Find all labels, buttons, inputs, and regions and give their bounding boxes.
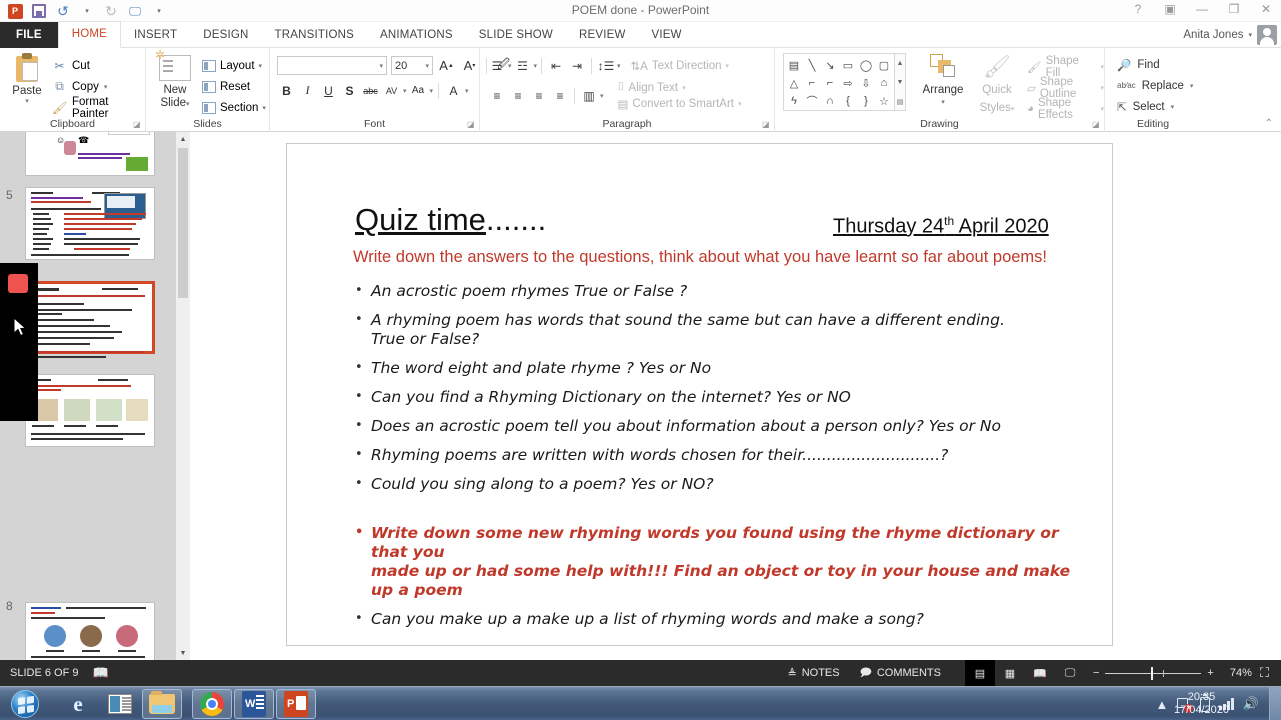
- slide-editing-area[interactable]: Quiz time....... Thursday 24th April 202…: [190, 132, 1281, 660]
- clock-date: 17/04/2020: [1174, 704, 1229, 717]
- list-item-line2: made up or had some help with!!! Find an…: [371, 562, 1070, 599]
- list-item-line1: Write down some new rhyming words you fo…: [371, 524, 1059, 561]
- gallery-more-icon[interactable]: ▤: [895, 92, 905, 111]
- collapse-ribbon-icon[interactable]: ⌃: [1265, 118, 1273, 129]
- chevron-down-icon[interactable]: ▾: [508, 62, 512, 70]
- slide-date-text: Thursday 24: [833, 216, 944, 238]
- strikethrough-button[interactable]: abc: [361, 81, 380, 100]
- select-label: Select: [1133, 101, 1165, 113]
- text-direction-icon: ⇅A: [631, 59, 648, 73]
- chevron-down-icon[interactable]: ▾: [379, 62, 383, 70]
- chevron-down-icon[interactable]: ▾: [534, 62, 538, 70]
- arrange-icon: [930, 54, 956, 78]
- status-bar: SLIDE 6 OF 9 📖 ≜ NOTES 🗩 COMMENTS ▤ ▦ 📖 …: [0, 660, 1281, 686]
- increase-indent-icon[interactable]: ⇥: [567, 56, 587, 75]
- fit-window-icon[interactable]: ⛶: [1260, 665, 1273, 681]
- reset-icon: [202, 81, 216, 93]
- scrollbar-thumb[interactable]: [178, 148, 188, 298]
- notes-label: NOTES: [802, 667, 840, 679]
- binoculars-icon: 🔎: [1117, 58, 1131, 72]
- shape-rounded-rect-icon[interactable]: ▢: [875, 56, 893, 74]
- group-label-editing: Editing: [1065, 118, 1241, 130]
- list-item[interactable]: Can you make up a make up a list of rhym…: [353, 610, 1083, 629]
- scissors-icon: ✂: [52, 59, 67, 73]
- new-slide-label-1: New: [163, 84, 186, 96]
- slide-sorter-icon[interactable]: ▦: [995, 660, 1025, 686]
- tab-review[interactable]: REVIEW: [566, 22, 639, 48]
- decrease-font-size-button[interactable]: A▾: [460, 56, 479, 75]
- ribbon-tab-bar: FILE HOME INSERT DESIGN TRANSITIONS ANIM…: [0, 22, 1281, 48]
- proofing-icon[interactable]: 📖: [92, 665, 108, 681]
- mouse-cursor: [14, 318, 28, 343]
- new-slide-icon: [159, 55, 191, 81]
- notes-button[interactable]: ≜ NOTES: [777, 660, 849, 686]
- shape-fill-icon: 🖌: [1027, 60, 1042, 74]
- list-item[interactable]: [25, 281, 155, 354]
- align-center-icon[interactable]: ≡: [508, 87, 528, 106]
- reading-view-icon[interactable]: 📖: [1025, 660, 1055, 686]
- font-size-value: 20: [395, 60, 407, 72]
- align-text-label: Align Text: [628, 82, 678, 94]
- copy-label: Copy: [72, 81, 99, 93]
- font-name-input[interactable]: ▾: [277, 56, 387, 75]
- shape-down-arrow-icon[interactable]: ⇩: [857, 74, 875, 92]
- reset-button[interactable]: Reset: [202, 76, 266, 97]
- clock-time: 20:35: [1188, 691, 1216, 704]
- scroll-down-icon[interactable]: ▼: [176, 646, 190, 660]
- gallery-scroll-up-icon[interactable]: ▲: [895, 54, 905, 73]
- chevron-down-icon[interactable]: ▾: [104, 83, 108, 91]
- paste-icon: [14, 53, 40, 83]
- chevron-down-icon[interactable]: ▾: [403, 87, 407, 95]
- section-label: Section: [220, 102, 258, 114]
- tab-transitions[interactable]: TRANSITIONS: [262, 22, 368, 48]
- chevron-down-icon[interactable]: ▾: [262, 104, 266, 112]
- arrange-label: Arrange: [923, 84, 964, 96]
- tab-insert[interactable]: INSERT: [121, 22, 190, 48]
- zoom-tick: [1163, 670, 1164, 677]
- chevron-down-icon[interactable]: ▾: [726, 62, 730, 70]
- powerpoint-window: P ↺ ▾ ↻ 🖵 ▾ POEM done - PowerPoint ? ▣ —…: [0, 0, 1281, 720]
- chevron-down-icon[interactable]: ▾: [259, 62, 263, 70]
- slide-title-text: Quiz time: [355, 202, 486, 237]
- chevron-down-icon[interactable]: ▾: [600, 92, 604, 100]
- select-button[interactable]: ⇱ Select ▾: [1117, 96, 1193, 117]
- list-item[interactable]: Could you sing along to a poem? Yes or N…: [353, 475, 1083, 494]
- scroll-up-icon[interactable]: ▲: [176, 132, 190, 146]
- restore-button[interactable]: ❐: [1223, 2, 1245, 16]
- file-explorer-icon[interactable]: [142, 689, 182, 719]
- justify-icon[interactable]: ≡: [550, 87, 570, 106]
- list-item[interactable]: Does an acrostic poem tell you about inf…: [353, 417, 1083, 436]
- list-item[interactable]: The word eight and plate rhyme ? Yes or …: [353, 359, 1083, 378]
- list-item[interactable]: [25, 374, 155, 447]
- shape-scribble-icon[interactable]: ϟ: [785, 92, 803, 110]
- font-color-button[interactable]: A: [444, 81, 463, 100]
- cut-button[interactable]: ✂ Cut: [52, 55, 145, 76]
- convert-to-smartart-button[interactable]: ▤ Convert to SmartArt ▾: [618, 97, 742, 111]
- shape-textbox-icon[interactable]: ▤: [785, 56, 803, 74]
- new-slide-label-2: Slide: [160, 97, 186, 109]
- ribbon-group-font: ▾ 20 ▾ A▲ A▾ 🖉 B I U S abc: [270, 48, 480, 132]
- tab-file[interactable]: FILE: [0, 22, 58, 48]
- shape-effects-button[interactable]: ◕ Shape Effects ▾: [1027, 98, 1104, 119]
- chevron-down-icon[interactable]: ▾: [1248, 31, 1252, 39]
- quick-styles-icon: 🖌: [971, 54, 1023, 80]
- ribbon-group-clipboard: Paste ▾ ✂ Cut ⧉ Copy ▾ 🖌 Format Painter: [0, 48, 146, 132]
- show-desktop-button[interactable]: [1269, 687, 1281, 720]
- shape-rectangle-icon[interactable]: ▭: [839, 56, 857, 74]
- comment-icon: 🗩: [860, 664, 872, 683]
- document-title: POEM done - PowerPoint: [0, 3, 1281, 17]
- zoom-slider[interactable]: − +: [1085, 667, 1222, 679]
- chevron-down-icon[interactable]: ▾: [915, 98, 971, 106]
- list-item[interactable]: An acrostic poem rhymes True or False ?: [353, 282, 1083, 301]
- decrease-indent-icon[interactable]: ⇤: [546, 56, 566, 75]
- slide-title-dots: .......: [486, 202, 546, 237]
- convert-to-smartart-label: Convert to SmartArt: [632, 98, 734, 110]
- list-item-line1: A rhyming poem has words that sound the …: [371, 311, 1005, 329]
- shape-star-icon[interactable]: ☆: [875, 92, 893, 110]
- thumbnail-number: 8: [6, 599, 13, 613]
- start-button[interactable]: [2, 688, 48, 720]
- columns-icon[interactable]: ▥: [579, 87, 599, 106]
- numbering-icon[interactable]: ☲: [513, 56, 533, 75]
- slide-date[interactable]: Thursday 24th April 2020: [833, 214, 1049, 239]
- reset-label: Reset: [220, 81, 250, 93]
- thumbnail-pane-scrollbar[interactable]: ▲ ▼: [176, 132, 190, 660]
- shape-effects-icon: ◕: [1027, 103, 1034, 115]
- chevron-down-icon[interactable]: ▾: [1100, 105, 1104, 113]
- layout-icon: [202, 60, 216, 72]
- group-label-paragraph: Paragraph: [480, 118, 774, 130]
- line-spacing-icon[interactable]: ↕☰: [596, 56, 616, 75]
- current-slide[interactable]: Quiz time....... Thursday 24th April 202…: [286, 143, 1113, 646]
- group-label-font: Font: [270, 118, 479, 130]
- slide-date-rest: April 2020: [954, 216, 1049, 238]
- chevron-down-icon[interactable]: ▾: [738, 100, 742, 108]
- volume-icon[interactable]: 🔊: [1243, 696, 1259, 712]
- ribbon-group-slides: New Slide▾ Layout ▾ Reset Section ▾: [146, 48, 270, 132]
- chevron-down-icon[interactable]: ▾: [1190, 82, 1194, 90]
- arrange-button[interactable]: Arrange ▾: [915, 54, 971, 106]
- user-account[interactable]: Anita Jones ▾: [1183, 22, 1277, 48]
- slide-date-ordinal: th: [944, 214, 954, 228]
- slideshow-icon[interactable]: 🖵: [1055, 660, 1085, 686]
- clipboard-dialog-launcher-icon[interactable]: ◪: [133, 120, 142, 129]
- shape-right-arrow-icon[interactable]: ⇨: [839, 74, 857, 92]
- shape-oval-icon[interactable]: ◯: [857, 56, 875, 74]
- chevron-down-icon[interactable]: ▾: [430, 87, 434, 95]
- layout-label: Layout: [220, 60, 255, 72]
- thumbnail-number: 5: [6, 188, 13, 202]
- chevron-down-icon[interactable]: ▾: [1171, 103, 1175, 111]
- slide-bullet-list[interactable]: An acrostic poem rhymes True or False ? …: [353, 282, 1083, 639]
- avatar[interactable]: [1257, 25, 1277, 45]
- comments-button[interactable]: 🗩 COMMENTS: [850, 660, 951, 686]
- list-item[interactable]: ☺ ☎: [25, 132, 155, 176]
- shape-curve-icon[interactable]: ∩: [821, 92, 839, 110]
- shape-right-brace-icon[interactable]: }: [857, 92, 875, 110]
- new-slide-button[interactable]: New Slide▾: [152, 53, 198, 111]
- windows-taskbar: e W P ▲ ✕ 🔊 20:35 17/04/2020: [0, 686, 1281, 720]
- italic-button[interactable]: I: [298, 81, 317, 100]
- chevron-down-icon[interactable]: ▾: [425, 62, 429, 70]
- slide-indicator[interactable]: SLIDE 6 OF 9: [10, 667, 78, 679]
- shape-effects-label: Shape Effects: [1038, 97, 1097, 121]
- media-player-icon[interactable]: [100, 689, 140, 719]
- list-item[interactable]: [25, 187, 155, 260]
- section-icon: [202, 102, 216, 114]
- stop-recording-icon[interactable]: [8, 274, 28, 293]
- change-case-button[interactable]: Aa: [409, 81, 428, 100]
- list-item-line2: True or False?: [371, 330, 479, 348]
- zoom-level-label[interactable]: 74%: [1222, 667, 1260, 679]
- shapes-gallery[interactable]: ▤ ╲ ↘ ▭ ◯ ▢ △ ⌐ ⌐ ⇨ ⇩ ⌂ ϟ ⌒ ∩ { } ☆: [783, 53, 895, 111]
- increase-font-size-button[interactable]: A▲: [437, 56, 456, 75]
- paste-label: Paste: [12, 85, 41, 97]
- shape-elbow-arrow-icon[interactable]: ⌐: [821, 74, 839, 92]
- text-direction-button[interactable]: ⇅A Text Direction ▾: [631, 59, 730, 73]
- internet-explorer-icon[interactable]: e: [58, 689, 98, 719]
- bullets-icon[interactable]: ☰: [487, 56, 507, 75]
- list-item[interactable]: [25, 602, 155, 660]
- replace-icon: ab⁄ac: [1117, 81, 1136, 90]
- character-spacing-label: AV: [386, 86, 397, 96]
- quick-styles-button[interactable]: 🖌 Quick Styles▾: [971, 54, 1023, 116]
- align-text-icon: ⌷: [618, 81, 625, 94]
- shapes-gallery-scrollbar[interactable]: ▲ ▼ ▤: [895, 53, 906, 111]
- format-painter-label: Format Painter: [72, 96, 145, 120]
- character-spacing-button[interactable]: AV: [382, 81, 401, 100]
- align-right-icon[interactable]: ≡: [529, 87, 549, 106]
- window-controls: ? ▣ — ❐ ✕: [1127, 2, 1277, 16]
- paste-button[interactable]: Paste ▾: [6, 53, 48, 105]
- pointer-icon: ⇱: [1117, 100, 1127, 114]
- format-painter-button[interactable]: 🖌 Format Painter: [52, 97, 145, 118]
- align-left-icon[interactable]: ≡: [487, 87, 507, 106]
- chevron-down-icon[interactable]: ▾: [617, 62, 621, 70]
- chevron-down-icon[interactable]: ▾: [465, 87, 469, 95]
- shape-outline-icon: ▱: [1027, 81, 1036, 95]
- shape-fill-button[interactable]: 🖌 Shape Fill ▾: [1027, 56, 1104, 77]
- powerpoint-icon[interactable]: P: [276, 689, 316, 719]
- comments-label: COMMENTS: [877, 667, 941, 679]
- list-item[interactable]: Write down some new rhyming words you fo…: [353, 524, 1083, 600]
- zoom-track[interactable]: [1105, 673, 1201, 674]
- ribbon-display-options-icon[interactable]: ▣: [1159, 2, 1181, 16]
- title-bar: P ↺ ▾ ↻ 🖵 ▾ POEM done - PowerPoint ? ▣ —…: [0, 0, 1281, 22]
- shape-arrow-icon[interactable]: ↘: [821, 56, 839, 74]
- paintbrush-icon: 🖌: [52, 101, 67, 115]
- show-hidden-icons-icon[interactable]: ▲: [1155, 697, 1168, 712]
- replace-label: Replace: [1142, 80, 1184, 92]
- font-size-input[interactable]: 20 ▾: [391, 56, 433, 75]
- find-button[interactable]: 🔎 Find: [1117, 54, 1193, 75]
- underline-button[interactable]: U: [319, 81, 338, 100]
- word-icon[interactable]: W: [234, 689, 274, 719]
- find-label: Find: [1137, 59, 1159, 71]
- copy-button[interactable]: ⧉ Copy ▾: [52, 76, 145, 97]
- quick-styles-label-2: Styles: [980, 102, 1011, 114]
- tab-view[interactable]: VIEW: [639, 22, 695, 48]
- taskbar-items: e W P: [58, 689, 316, 719]
- zoom-handle[interactable]: [1151, 667, 1153, 680]
- font-dialog-launcher-icon[interactable]: ◪: [467, 120, 476, 129]
- user-name-label: Anita Jones: [1183, 29, 1243, 41]
- layout-button[interactable]: Layout ▾: [202, 55, 266, 76]
- section-button[interactable]: Section ▾: [202, 97, 266, 118]
- normal-view-icon[interactable]: ▤: [965, 660, 995, 686]
- ribbon-group-drawing: ▤ ╲ ↘ ▭ ◯ ▢ △ ⌐ ⌐ ⇨ ⇩ ⌂ ϟ ⌒ ∩ { } ☆ ▲: [775, 48, 1105, 132]
- chrome-icon[interactable]: [192, 689, 232, 719]
- list-item[interactable]: A rhyming poem has words that sound the …: [353, 311, 1083, 349]
- chevron-down-icon[interactable]: ▾: [1100, 63, 1104, 71]
- start-orb-icon: [11, 690, 39, 718]
- cut-label: Cut: [72, 60, 90, 72]
- smartart-icon: ▤: [618, 97, 629, 111]
- shape-left-brace-icon[interactable]: {: [839, 92, 857, 110]
- align-text-button[interactable]: ⌷ Align Text ▾: [618, 81, 742, 94]
- slide-title[interactable]: Quiz time.......: [355, 202, 546, 238]
- ribbon-group-editing: 🔎 Find ab⁄ac Replace ▾ ⇱ Select ▾ Editin…: [1105, 48, 1281, 132]
- slide-subtitle[interactable]: Write down the answers to the questions,…: [353, 248, 1047, 267]
- zoom-in-button[interactable]: +: [1207, 667, 1213, 679]
- help-icon[interactable]: ?: [1127, 2, 1149, 16]
- zoom-out-button[interactable]: −: [1093, 667, 1099, 679]
- text-shadow-button[interactable]: S: [340, 81, 359, 100]
- tab-design[interactable]: DESIGN: [190, 22, 261, 48]
- chevron-down-icon[interactable]: ▾: [682, 84, 686, 92]
- ribbon: Paste ▾ ✂ Cut ⧉ Copy ▾ 🖌 Format Painter: [0, 48, 1281, 132]
- list-item[interactable]: Rhyming poems are written with words cho…: [353, 446, 1083, 465]
- paragraph-dialog-launcher-icon[interactable]: ◪: [762, 120, 771, 129]
- group-label-drawing: Drawing: [775, 118, 1104, 130]
- shape-arc-icon[interactable]: ⌒: [803, 92, 821, 110]
- ribbon-group-paragraph: ☰ ▾ ☲ ▾ ⇤ ⇥ ↕☰ ▾ ⇅A Text Direction ▾ ≡: [480, 48, 775, 132]
- group-label-slides: Slides: [146, 118, 269, 130]
- shape-elbow-icon[interactable]: ⌐: [803, 74, 821, 92]
- tab-home[interactable]: HOME: [58, 21, 121, 48]
- taskbar-clock[interactable]: 20:35 17/04/2020: [1174, 687, 1229, 720]
- gallery-scroll-down-icon[interactable]: ▼: [895, 73, 905, 92]
- minimize-button[interactable]: —: [1191, 2, 1213, 16]
- close-button[interactable]: ✕: [1255, 2, 1277, 16]
- shape-outline-button[interactable]: ▱ Shape Outline ▾: [1027, 77, 1104, 98]
- tab-animations[interactable]: ANIMATIONS: [367, 22, 466, 48]
- shape-triangle-icon[interactable]: △: [785, 74, 803, 92]
- tab-slide-show[interactable]: SLIDE SHOW: [466, 22, 566, 48]
- replace-button[interactable]: ab⁄ac Replace ▾: [1117, 75, 1193, 96]
- group-label-clipboard: Clipboard: [0, 118, 145, 130]
- text-direction-label: Text Direction: [652, 60, 722, 72]
- copy-icon: ⧉: [52, 79, 67, 94]
- notes-icon: ≜: [787, 667, 796, 680]
- chevron-down-icon[interactable]: ▾: [1100, 84, 1104, 92]
- shape-pentagon-icon[interactable]: ⌂: [875, 74, 893, 92]
- shape-line-icon[interactable]: ╲: [803, 56, 821, 74]
- list-item[interactable]: Can you find a Rhyming Dictionary on the…: [353, 388, 1083, 407]
- quick-styles-label-1: Quick: [982, 84, 1011, 96]
- bold-button[interactable]: B: [277, 81, 296, 100]
- chevron-down-icon[interactable]: ▾: [6, 97, 48, 105]
